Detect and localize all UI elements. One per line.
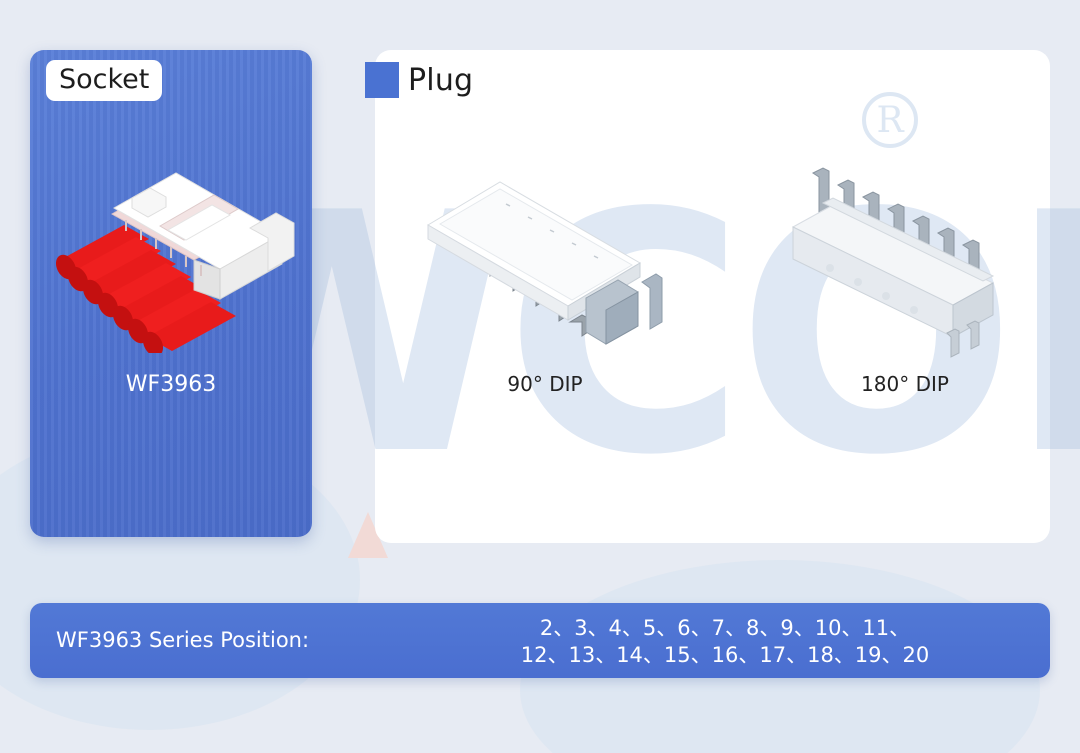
caption-90-dip: 90° DIP: [435, 372, 655, 396]
position-values-line-1: 2、3、4、5、6、7、8、9、10、11、: [430, 615, 1020, 642]
figure-straight-dip-header: [775, 165, 1020, 365]
card-registered-trademark-icon: R: [862, 92, 918, 148]
position-banner: WF3963 Series Position: 2、3、4、5、6、7、8、9、…: [30, 603, 1050, 678]
plug-color-swatch: [365, 62, 399, 98]
position-banner-label: WF3963 Series Position:: [56, 628, 309, 652]
socket-product-name: WF3963: [30, 372, 312, 397]
position-banner-values: 2、3、4、5、6、7、8、9、10、11、 12、13、14、15、16、17…: [430, 615, 1020, 669]
socket-badge: Socket: [46, 60, 162, 101]
socket-panel: Socket WF3963: [30, 50, 312, 537]
position-values-line-2: 12、13、14、15、16、17、18、19、20: [430, 642, 1020, 669]
figure-right-angle-dip-header: [410, 170, 680, 360]
plug-card: WCON R: [375, 50, 1050, 543]
plug-title: Plug: [408, 63, 473, 98]
caption-180-dip: 180° DIP: [795, 372, 1015, 396]
figure-socket-connector: [54, 168, 304, 353]
